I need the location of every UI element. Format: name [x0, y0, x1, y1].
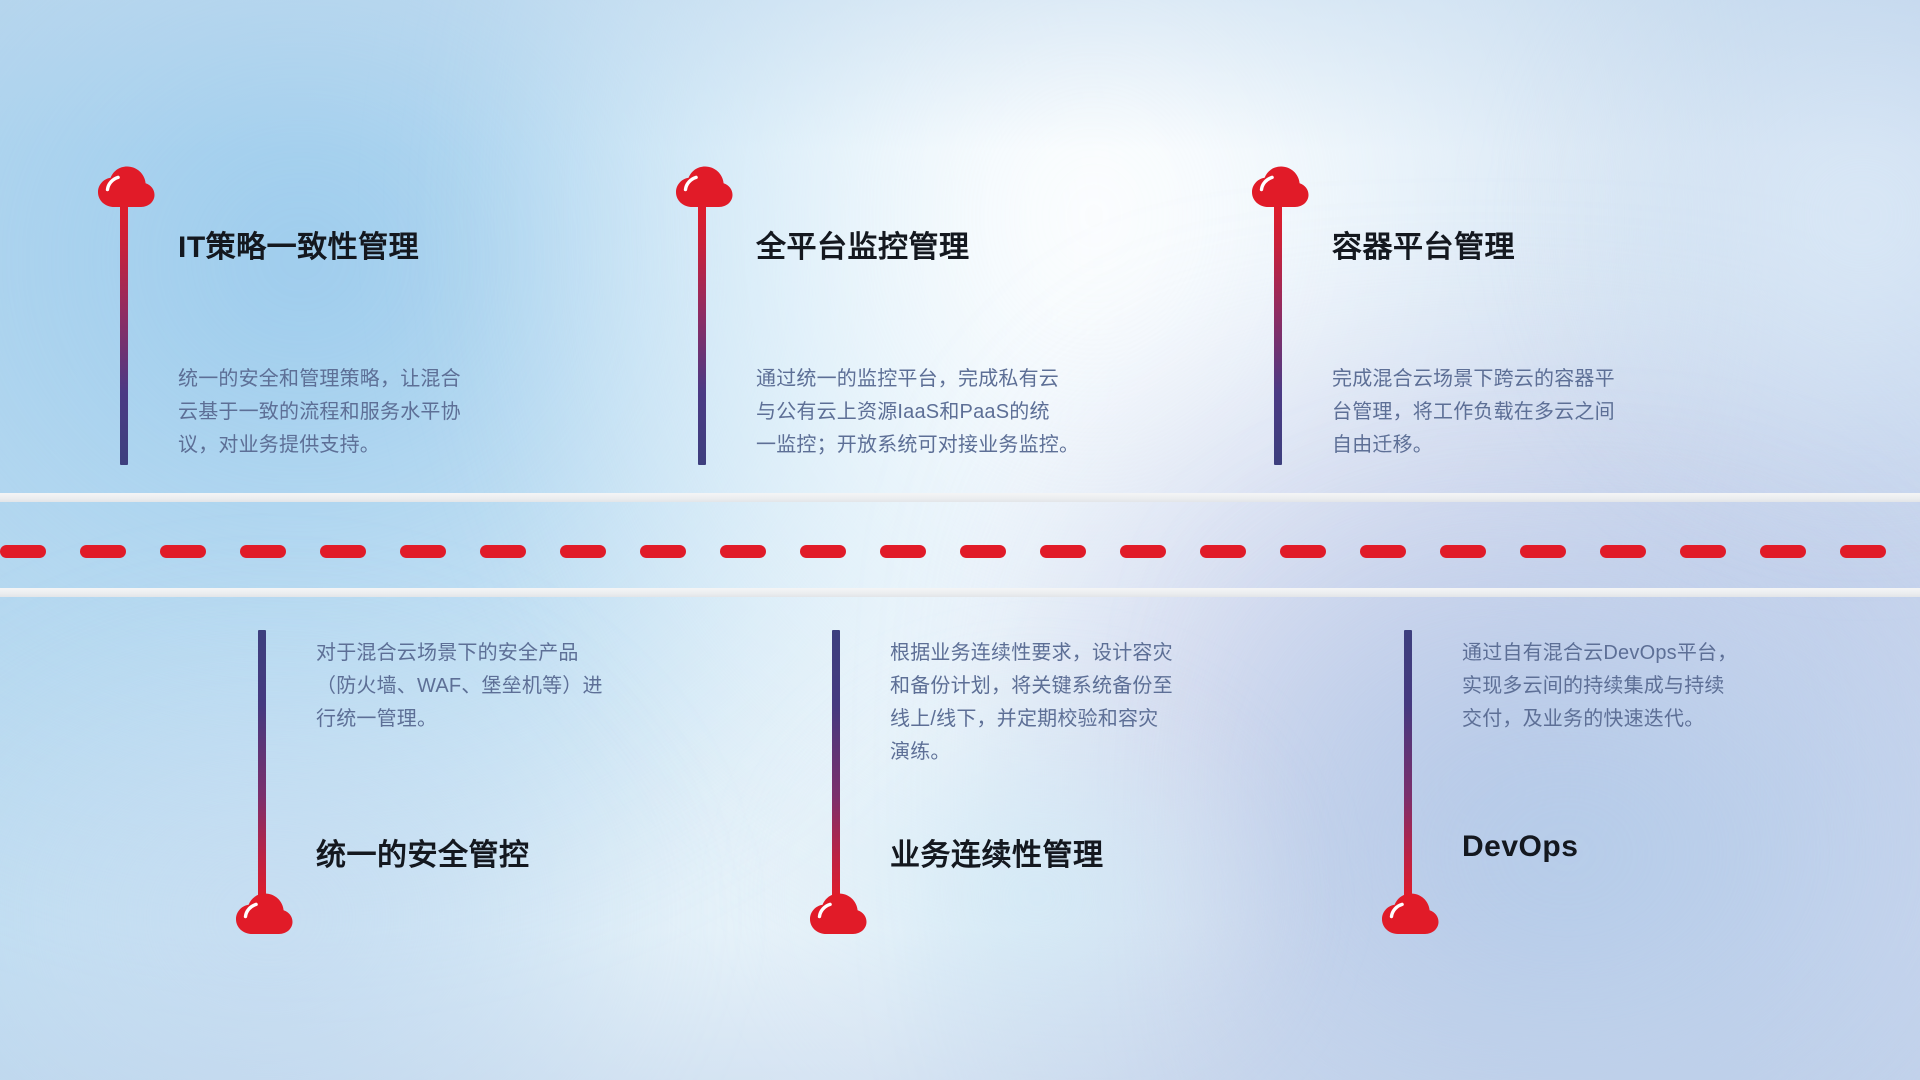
- divider-rail-bottom: [0, 588, 1920, 597]
- dash-segment: [1440, 545, 1486, 558]
- dash-segment: [80, 545, 126, 558]
- top-column-3-body: 完成混合云场景下跨云的容器平 台管理，将工作负载在多云之间 自由迁移。: [1332, 363, 1792, 462]
- dash-segment: [1760, 545, 1806, 558]
- dash-segment: [560, 545, 606, 558]
- dashed-red-line: [0, 545, 1920, 558]
- cloud-icon: [1250, 165, 1310, 209]
- dash-segment: [1360, 545, 1406, 558]
- cloud-icon: [234, 892, 294, 936]
- connector-stem: [120, 205, 128, 465]
- divider-rail-top: [0, 493, 1920, 502]
- dash-segment: [800, 545, 846, 558]
- dash-segment: [640, 545, 686, 558]
- dash-segment: [320, 545, 366, 558]
- bottom-column-3-body: 通过自有混合云DevOps平台， 实现多云间的持续集成与持续 交付，及业务的快速…: [1462, 637, 1902, 736]
- top-column-2-body: 通过统一的监控平台，完成私有云 与公有云上资源IaaS和PaaS的统 一监控；开…: [756, 363, 1236, 462]
- cloud-icon: [674, 165, 734, 209]
- bottom-column-2-body: 根据业务连续性要求，设计容灾 和备份计划，将关键系统备份至 线上/线下，并定期校…: [890, 637, 1340, 769]
- dash-segment: [0, 545, 46, 558]
- top-column-1-body: 统一的安全和管理策略，让混合 云基于一致的流程和服务水平协 议，对业务提供支持。: [178, 363, 638, 462]
- dash-segment: [400, 545, 446, 558]
- dash-segment: [240, 545, 286, 558]
- connector-stem: [698, 205, 706, 465]
- dash-segment: [1680, 545, 1726, 558]
- dash-segment: [880, 545, 926, 558]
- dash-segment: [1520, 545, 1566, 558]
- bottom-column-1-body: 对于混合云场景下的安全产品 （防火墙、WAF、堡垒机等）进 行统一管理。: [316, 637, 756, 736]
- dash-segment: [1200, 545, 1246, 558]
- cloud-icon: [96, 165, 156, 209]
- cloud-icon: [808, 892, 868, 936]
- dash-segment: [1600, 545, 1646, 558]
- dash-segment: [1040, 545, 1086, 558]
- connector-stem: [258, 630, 266, 898]
- dash-segment: [720, 545, 766, 558]
- dash-segment: [480, 545, 526, 558]
- dash-segment: [1120, 545, 1166, 558]
- bottom-column-3-title: DevOps: [1462, 830, 1578, 864]
- connector-stem: [832, 630, 840, 898]
- dash-segment: [160, 545, 206, 558]
- top-column-3-title: 容器平台管理: [1332, 222, 1515, 266]
- cloud-icon: [1380, 892, 1440, 936]
- dash-segment: [960, 545, 1006, 558]
- infographic-stage: IT策略一致性管理 统一的安全和管理策略，让混合 云基于一致的流程和服务水平协 …: [0, 0, 1920, 1080]
- top-column-1-title: IT策略一致性管理: [178, 222, 419, 266]
- dash-segment: [1280, 545, 1326, 558]
- dash-segment: [1840, 545, 1886, 558]
- bottom-column-1-title: 统一的安全管控: [316, 830, 530, 874]
- top-column-2-title: 全平台监控管理: [756, 222, 970, 266]
- connector-stem: [1404, 630, 1412, 898]
- bottom-column-2-title: 业务连续性管理: [890, 830, 1104, 874]
- connector-stem: [1274, 205, 1282, 465]
